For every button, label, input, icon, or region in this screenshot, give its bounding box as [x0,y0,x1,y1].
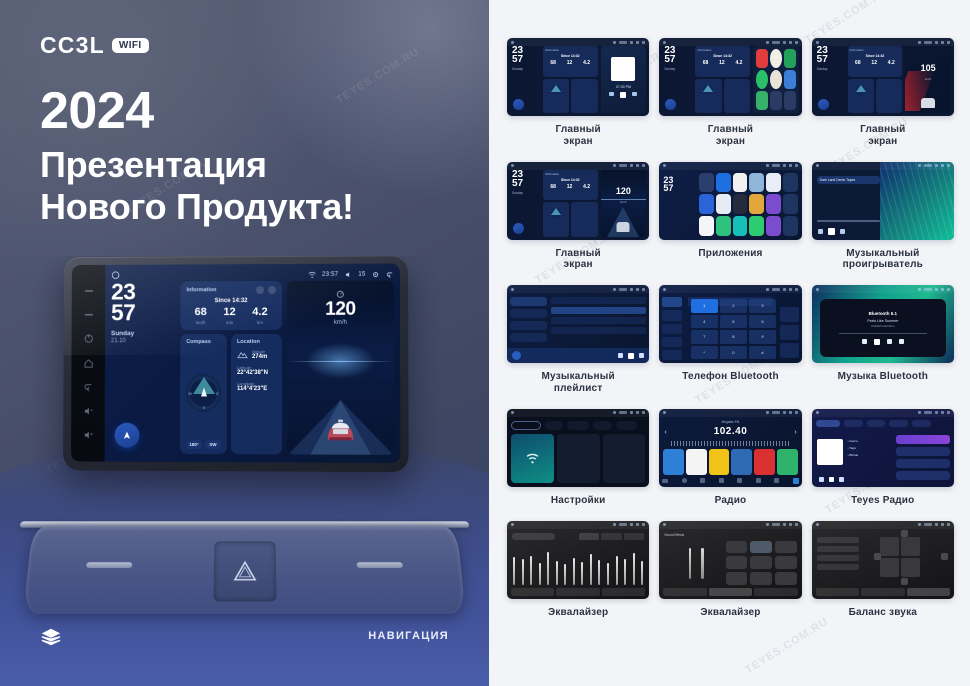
eq-tab[interactable] [663,588,706,596]
stop-icon[interactable] [887,339,892,344]
grid-cell[interactable]: Sound Effects [659,521,801,619]
thumbnail-apps[interactable]: 2357 [659,162,801,240]
preset-tile-active[interactable] [750,541,772,554]
preset-row[interactable] [817,537,860,543]
preset-tile[interactable] [750,572,772,585]
mini-status-bar [812,162,954,170]
app-icon[interactable] [770,70,782,89]
eq-tabs[interactable] [511,588,645,596]
track-title: Dark Land Demo Tapes [817,176,880,184]
home-icon [663,523,666,526]
grid-cell[interactable]: • Genre • Tags • Bitrate [812,409,954,507]
mini-player-bar[interactable] [507,348,649,363]
grid-cell[interactable]: 2357Sunday InformationSince 14:3268124.2… [507,162,649,272]
preset-tile[interactable] [726,572,748,585]
app-icon[interactable] [733,194,748,214]
eq-tab-active[interactable] [709,588,752,596]
app-icon[interactable] [784,49,796,68]
power-icon[interactable] [83,286,94,297]
meta-row: • Tags [848,446,879,450]
stat-value: 68 [550,60,556,66]
balance-left-button[interactable] [874,553,881,560]
app-icon[interactable] [699,173,714,193]
mini-info: InformationSince 14:3268124.2 [543,170,598,237]
tab-item[interactable] [567,421,588,430]
stat-value: 4.2 [888,60,895,66]
speaker-rear-left[interactable] [880,558,899,577]
caption-line-2: экран [868,136,897,147]
caption-line-1: Главный [555,248,600,259]
app-grid[interactable] [699,173,797,236]
eq-slider[interactable] [689,548,692,578]
play-pause-icon[interactable] [874,339,880,345]
preset-tile[interactable] [750,556,772,569]
thumbnail-playlist[interactable] [507,285,649,363]
next-icon[interactable] [639,353,644,358]
track-list[interactable] [551,297,646,347]
station-row[interactable] [896,459,950,468]
eq-tabs[interactable] [663,588,797,596]
wifi-icon [308,270,316,278]
mini-clock: 2357Sunday [510,46,540,113]
navigation-button[interactable] [513,99,524,110]
eq-slider[interactable] [513,557,515,585]
progress-bar[interactable] [839,333,927,335]
stat-value: 12 [719,60,725,66]
mini-weekday: Sunday [817,67,845,71]
app-icon[interactable] [749,194,764,214]
preset-tile[interactable] [663,449,684,475]
navigation-button[interactable] [665,99,676,110]
next-station-icon[interactable]: › [794,429,796,436]
next-icon[interactable] [839,477,844,482]
app-icon[interactable] [733,216,748,236]
speaker-front-right[interactable] [901,537,920,556]
thumbnail-teyes-radio[interactable]: • Genre • Tags • Bitrate [812,409,954,487]
side-key-strip [71,265,105,462]
balance-down-button[interactable] [901,578,908,585]
thumbnail-bluetooth-phone[interactable]: 1 2 3 4 5 6 7 8 9 * 0 # [659,285,801,363]
thumbnail-caption: Эквалайзер [700,607,760,619]
caption-line-1: Главный [708,124,753,135]
eq-tab[interactable] [861,588,904,596]
thumbnail-equalizer-bars[interactable] [507,521,649,599]
station-row[interactable] [896,435,950,444]
tab-item[interactable] [912,420,931,427]
speaker-rear-right[interactable] [901,558,920,577]
app-icon[interactable] [783,173,798,193]
dial-key[interactable]: 1 [691,299,718,313]
compass-card[interactable]: Compass W E S [180,334,227,454]
apps-clock: 2357 [663,176,673,192]
preset-row[interactable] [817,555,860,561]
car-dashboard-scene: 23:57 15 23 57 [0,256,489,686]
eq-slider[interactable] [522,559,524,584]
caption-line-2: экран [564,259,593,270]
navigation-button[interactable] [818,99,829,110]
preset-tile[interactable] [726,541,748,554]
mini-compass [543,202,569,236]
sidebar-item[interactable] [510,321,547,330]
dial-key[interactable]: 9 [749,330,776,344]
sidebar-item[interactable] [510,333,547,342]
eq-slider[interactable] [701,548,704,578]
eq-tab-active[interactable] [907,588,950,596]
app-icon[interactable] [766,173,781,193]
grid-cell[interactable]: Эквалайзер [507,521,649,619]
eq-slider[interactable] [539,563,541,585]
sidebar-icon[interactable] [662,337,682,347]
tab-item[interactable] [545,421,564,430]
sidebar-item[interactable] [510,297,547,306]
play-icon[interactable] [620,92,626,98]
grid-cell[interactable]: Dark Land Demo Tapes Музыкальныйпроигрыв… [812,162,954,272]
app-icon[interactable] [770,91,782,110]
wifi-card[interactable] [511,434,554,483]
latitude-value: 22°42'38"N [237,370,276,376]
transport-controls[interactable] [818,228,845,235]
dial-key[interactable]: 7 [691,330,718,344]
sidebar-icon[interactable] [662,297,682,307]
tab-wifi[interactable] [511,421,541,430]
dial-key[interactable]: # [749,346,776,360]
eq-slider[interactable] [581,562,583,585]
toolbar-icon[interactable] [700,478,705,483]
album-art [611,57,635,81]
information-card[interactable]: Information Since 14:32 [180,281,282,330]
thumbnail-music-player[interactable]: Dark Land Demo Tapes [812,162,954,240]
track-row[interactable] [551,327,646,334]
mini-app-shortcuts[interactable] [753,46,799,113]
grid-cell[interactable]: 2357Sunday InformationSince 14:3268124.2… [507,38,649,148]
app-icon[interactable] [716,216,731,236]
pause-icon[interactable] [828,228,835,235]
grid-cell[interactable]: 2357 [659,162,801,272]
transport-controls[interactable] [862,339,904,345]
mini-info-title: Information [850,48,901,52]
prev-station-icon[interactable]: ‹ [664,429,666,436]
home-icon[interactable] [83,358,94,369]
mini-minutes: 57 [817,55,845,64]
toolbar-icon[interactable] [737,478,742,483]
caption-line-1: Teyes Радио [851,495,914,506]
radio-band: Megalan FM [659,420,801,424]
more-card[interactable] [603,434,646,483]
home-icon [511,164,514,167]
compass-dial [701,83,715,97]
navigation-button[interactable] [513,223,524,234]
next-icon[interactable] [899,339,904,344]
sidebar-icon[interactable] [662,310,682,320]
eq-tab[interactable] [602,588,645,596]
track-row[interactable] [551,307,646,314]
mini-info-title: Information [545,172,596,176]
sidebar-icon[interactable] [662,350,682,360]
next-icon[interactable] [632,92,637,96]
volume-down-icon[interactable] [83,405,94,416]
mini-status-bar [507,162,649,170]
eq-slider[interactable] [598,560,600,585]
app-icon[interactable] [784,91,796,110]
mini-status-bar [507,285,649,293]
phone-sidebar[interactable] [662,297,682,360]
eq-preset-grid[interactable] [726,541,797,585]
speed-value: 120 [287,300,394,319]
stop-icon[interactable] [829,477,834,482]
app-icon[interactable] [783,216,798,236]
product-logo: CC3L WIFI [40,34,149,57]
previous-icon[interactable] [618,353,623,358]
call-icon[interactable] [780,343,799,358]
reset-icon[interactable] [83,334,94,345]
dial-key[interactable]: 6 [749,315,776,329]
preset-tile[interactable] [726,556,748,569]
tab-item[interactable] [844,420,863,427]
station-list[interactable] [896,435,950,483]
balance-up-button[interactable] [901,530,908,537]
mini-clock: 2357Sunday [815,46,845,113]
search-icon[interactable] [682,478,687,483]
altitude-value: 274m [252,354,267,360]
eq-tab[interactable] [511,588,554,596]
mini-status-bar [507,521,649,529]
dial-key[interactable]: 5 [720,315,747,329]
eq-tabs[interactable] [816,588,950,596]
preset-tile[interactable] [709,449,730,475]
gear-icon[interactable] [372,270,380,278]
speaker-front-left[interactable] [880,537,899,556]
playlist-sidebar[interactable] [510,297,547,347]
dial-key[interactable]: 4 [691,315,718,329]
information-header: Information [186,286,276,294]
sidebar-icon[interactable] [662,324,682,334]
stat-value: 68 [195,307,207,318]
thumbnail-radio[interactable]: Megalan FM 102.40 ‹ › [659,409,801,487]
station-row[interactable] [896,447,950,456]
toolbar-icon[interactable] [662,479,668,483]
thumbnail-sound-balance[interactable] [812,521,954,599]
favorite-icon[interactable] [780,307,799,322]
headline-line-1: Презентация [40,144,460,186]
app-icon[interactable] [756,49,768,68]
toolbar-icon[interactable] [756,478,761,483]
eq-slider[interactable] [624,559,626,585]
preset-tile[interactable] [731,449,752,475]
thumbnail-home-apps[interactable]: 2357Sunday InformationSince 14:3268124.2 [659,38,801,116]
grid-cell[interactable]: 2357Sunday InformationSince 14:3268124.2 [659,38,801,148]
hero-footer: НАВИГАЦИЯ [0,626,489,656]
grid-cell[interactable]: Музыкальныйплейлист [507,285,649,395]
eq-slider[interactable] [633,553,635,584]
preset-tile[interactable] [775,541,797,554]
eq-slider[interactable] [573,558,575,585]
app-icon[interactable] [770,49,782,68]
layers-icon[interactable] [40,626,62,648]
eq-slider[interactable] [530,556,532,585]
station-row[interactable] [896,471,950,480]
speed-widget[interactable]: 120 km/h [287,281,394,455]
settings-cards[interactable] [511,434,645,483]
volume-up-icon[interactable] [82,429,93,440]
tab-item[interactable] [867,420,886,427]
app-icon[interactable] [766,194,781,214]
transport-controls[interactable] [819,477,844,482]
pause-icon[interactable] [628,353,634,359]
preset-tile[interactable] [686,449,707,475]
mini-lower [848,79,903,113]
screenshot-grid-panel: TEYES.COM.RU TEYES.COM.RU TEYES.COM.RU T… [489,0,970,686]
thumbnail-home-speed[interactable]: 2357Sunday InformationSince 14:3268124.2… [507,162,649,240]
dial-key[interactable]: 0 [720,346,747,360]
hazard-button[interactable] [213,541,276,601]
app-icon[interactable] [716,173,731,193]
sidebar-item[interactable] [510,309,547,318]
teyes-tabs[interactable] [816,420,950,427]
thumbnail-bluetooth-music[interactable]: Bluetooth 5.1 Feels Like Summer Childish… [812,285,954,363]
back-icon[interactable] [83,381,94,392]
balance-right-button[interactable] [941,553,948,560]
eq-tab[interactable] [754,588,797,596]
stat-value: 4.2 [583,184,590,190]
station-presets[interactable] [663,449,797,475]
eq-slider[interactable] [556,561,558,585]
horizon-glow [305,342,376,378]
app-icon[interactable] [756,91,768,110]
info-action-2-icon[interactable] [268,286,276,294]
navigation-button[interactable] [115,423,140,448]
thumbnail-equalizer-simple[interactable]: Sound Effects [659,521,801,599]
eq-slider[interactable] [641,561,643,584]
mini-weekday: Sunday [512,191,540,195]
grid-cell[interactable]: Megalan FM 102.40 ‹ › [659,409,801,507]
latitude-block: Latitude 22°42'38"N [237,365,276,376]
preset-tile[interactable] [775,572,797,585]
previous-icon[interactable] [818,229,823,234]
tuning-scale[interactable] [671,441,789,446]
app-icon[interactable] [749,173,764,193]
speaker-grid[interactable] [880,537,920,577]
compass-heading: 180° [186,440,202,449]
caption-line-1: Музыкальный [542,371,615,382]
thumbnail-home-media[interactable]: 2357Sunday InformationSince 14:3268124.2… [507,38,649,116]
settings-tabs[interactable] [511,421,645,430]
preset-tile[interactable] [777,449,798,475]
toolbar-icon[interactable] [774,478,779,483]
app-icon[interactable] [784,70,796,89]
caption-line-1: Телефон Bluetooth [682,371,779,382]
eq-tab[interactable] [816,588,859,596]
eq-slider[interactable] [607,563,609,585]
location-card[interactable]: Location Altitude 274m [231,334,282,454]
app-icon[interactable] [783,194,798,214]
trip-stat: 68 km/h [195,307,207,325]
mini-since: Since 14:32 [697,54,748,58]
tab-item[interactable] [889,420,908,427]
previous-icon[interactable] [862,339,867,344]
grid-cell[interactable]: 2357Sunday InformationSince 14:3268124.2… [812,38,954,148]
phone-actions[interactable] [780,307,799,358]
dial-key[interactable]: 2 [720,299,747,313]
grid-cell[interactable]: Bluetooth 5.1 Feels Like Summer Childish… [812,285,954,395]
grid-cell[interactable]: 1 2 3 4 5 6 7 8 9 * 0 # [659,285,801,395]
eq-slider[interactable] [547,552,549,584]
backspace-icon[interactable] [780,325,799,340]
home-icon [663,41,666,44]
toolbar-icon[interactable] [719,478,724,483]
eq-tab[interactable] [556,588,599,596]
previous-icon[interactable] [819,477,824,482]
info-action-1-icon[interactable] [256,286,264,294]
app-icon[interactable] [733,173,748,193]
back-arrow-icon[interactable] [386,270,394,278]
eq-slider[interactable] [590,554,592,584]
balance-presets[interactable] [817,537,860,573]
mini-stats: 68124.2 [850,60,901,66]
stat-unit: min [223,320,235,325]
eq-slider[interactable] [616,556,618,585]
dial-key[interactable]: 8 [720,330,747,344]
dial-pad[interactable]: 1 2 3 4 5 6 7 8 9 * 0 # [691,299,776,359]
mini-minutes: 57 [512,55,540,64]
thumbnail-caption: Радио [715,495,747,507]
preset-tile[interactable] [754,449,775,475]
app-icon[interactable] [716,194,731,214]
preset-row[interactable] [817,546,860,552]
tab-item[interactable] [593,421,612,430]
radio-toolbar[interactable] [662,477,798,485]
app-icon[interactable] [699,216,714,236]
toolbar-icon-active[interactable] [793,478,799,484]
headline-year: 2024 [40,85,460,138]
thumbnail-settings[interactable] [507,409,649,487]
app-icon[interactable] [749,216,764,236]
preset-row[interactable] [817,564,860,570]
track-row[interactable] [551,317,646,324]
home-icon [663,164,666,167]
equalizer-sliders[interactable] [513,539,643,585]
altitude-row: Altitude 274m [237,349,276,360]
dial-key[interactable]: * [691,346,718,360]
tab-item[interactable] [616,421,637,430]
track-row[interactable] [551,297,646,304]
head-unit-device: 23:57 15 23 57 [63,256,409,472]
thumbnail-home-speed-red[interactable]: 2357Sunday InformationSince 14:3268124.2… [812,38,954,116]
hotspot-card[interactable] [557,434,600,483]
grid-cell[interactable]: Настройки [507,409,649,507]
thumbnail-grid: 2357Sunday InformationSince 14:3268124.2… [489,0,970,632]
preset-tile[interactable] [775,556,797,569]
transport-controls[interactable] [609,92,637,98]
mute-icon[interactable] [83,310,94,321]
next-icon[interactable] [840,229,845,234]
os-content: 23:57 15 23 57 [105,263,401,463]
caption-line-2: экран [564,136,593,147]
grid-cell[interactable]: Баланс звука [812,521,954,619]
mini-info-card: InformationSince 14:3268124.2 [695,46,750,77]
mini-lower [543,202,598,236]
compass-dial [549,83,563,97]
app-icon[interactable] [699,194,714,214]
status-icons [613,411,645,414]
previous-icon[interactable] [609,92,614,96]
eq-slider[interactable] [564,564,566,585]
dial-key[interactable]: 3 [749,299,776,313]
app-icon[interactable] [766,216,781,236]
eq-two-sliders[interactable] [676,543,716,585]
progress-bar[interactable] [817,220,880,222]
app-icon[interactable] [756,70,768,89]
tab-item[interactable] [816,420,840,427]
